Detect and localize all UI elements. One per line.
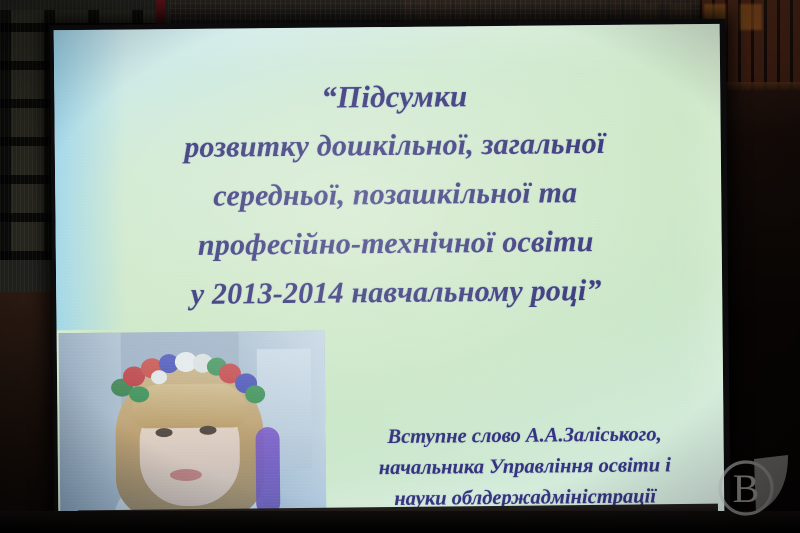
photo-frame: “Підсумки розвитку дошкільної, загальної…	[0, 0, 800, 533]
slide-inset-photo	[59, 331, 327, 520]
slide-title-line-5: у 2013-2014 навчальному році”	[96, 265, 696, 320]
slide-title-line-3: середньої, позашкільної та	[95, 167, 695, 222]
slide-title-line-1: “Підсумки	[94, 69, 694, 124]
photo-purple-object	[255, 427, 280, 515]
watermark-logo: B	[710, 451, 794, 525]
slide-subtitle-line-1: Вступне слово А.А.Заліського,	[329, 419, 719, 454]
projection-screen: “Підсумки розвитку дошкільної, загальної…	[54, 24, 725, 519]
slide-subtitle: Вступне слово А.А.Заліського, начальника…	[329, 419, 720, 516]
photo-background-left	[59, 333, 123, 520]
watermark-letter: B	[733, 466, 760, 511]
photo-floral-wreath	[107, 351, 276, 407]
slide-title-line-2: розвитку дошкільної, загальної	[95, 118, 695, 173]
slide-subtitle-line-2: начальника Управління освіти і	[330, 450, 720, 485]
foreground-dark-edge	[0, 511, 800, 533]
slide-title-line-4: професійно-технічної освіти	[96, 216, 696, 271]
slide-title: “Підсумки розвитку дошкільної, загальної…	[94, 69, 696, 320]
